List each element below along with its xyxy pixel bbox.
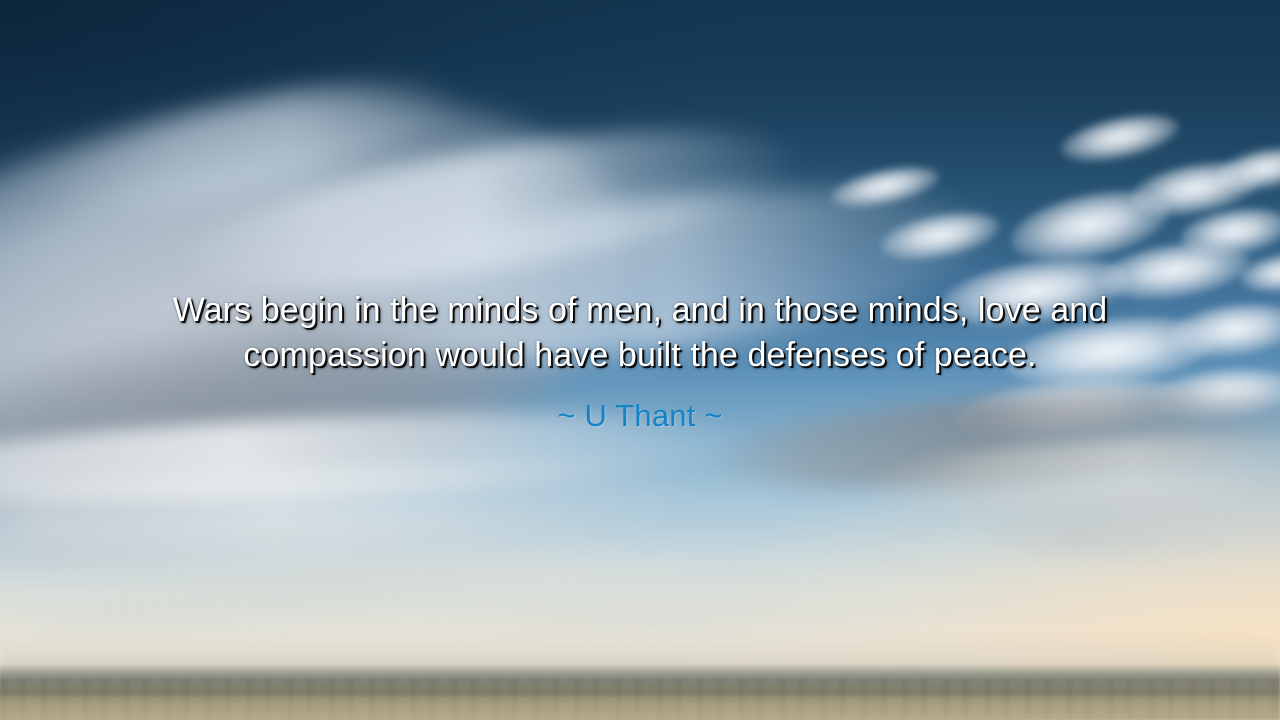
cloud-puff-9 <box>1177 202 1280 263</box>
cloud-puff-12 <box>1212 141 1280 197</box>
cloud-band-horizon-2 <box>420 590 1120 636</box>
ground-texture <box>0 678 1280 720</box>
cloud-band-horizon-3 <box>0 591 460 630</box>
quote-author: ~ U Thant ~ <box>70 398 1210 434</box>
quote-block: Wars begin in the minds of men, and in t… <box>70 288 1210 434</box>
cloud-puff-8 <box>1057 106 1183 170</box>
cloud-puff-1 <box>1005 179 1174 273</box>
quote-text: Wars begin in the minds of men, and in t… <box>70 288 1210 378</box>
cloud-band-right-lower <box>959 479 1280 563</box>
cloud-puff-13 <box>828 159 943 215</box>
cloud-puff-7 <box>877 204 1003 268</box>
cloud-band-left-mid <box>0 456 701 557</box>
cloud-band-right-mid <box>859 426 1280 523</box>
quote-wallpaper: Wars begin in the minds of men, and in t… <box>0 0 1280 720</box>
cloud-puff-2 <box>1127 154 1263 224</box>
cloud-wisp-top <box>35 54 464 236</box>
cloud-band-horizon-1 <box>120 552 881 612</box>
cloud-band-left-lower <box>0 510 661 590</box>
cloud-puff-14 <box>1238 249 1280 297</box>
